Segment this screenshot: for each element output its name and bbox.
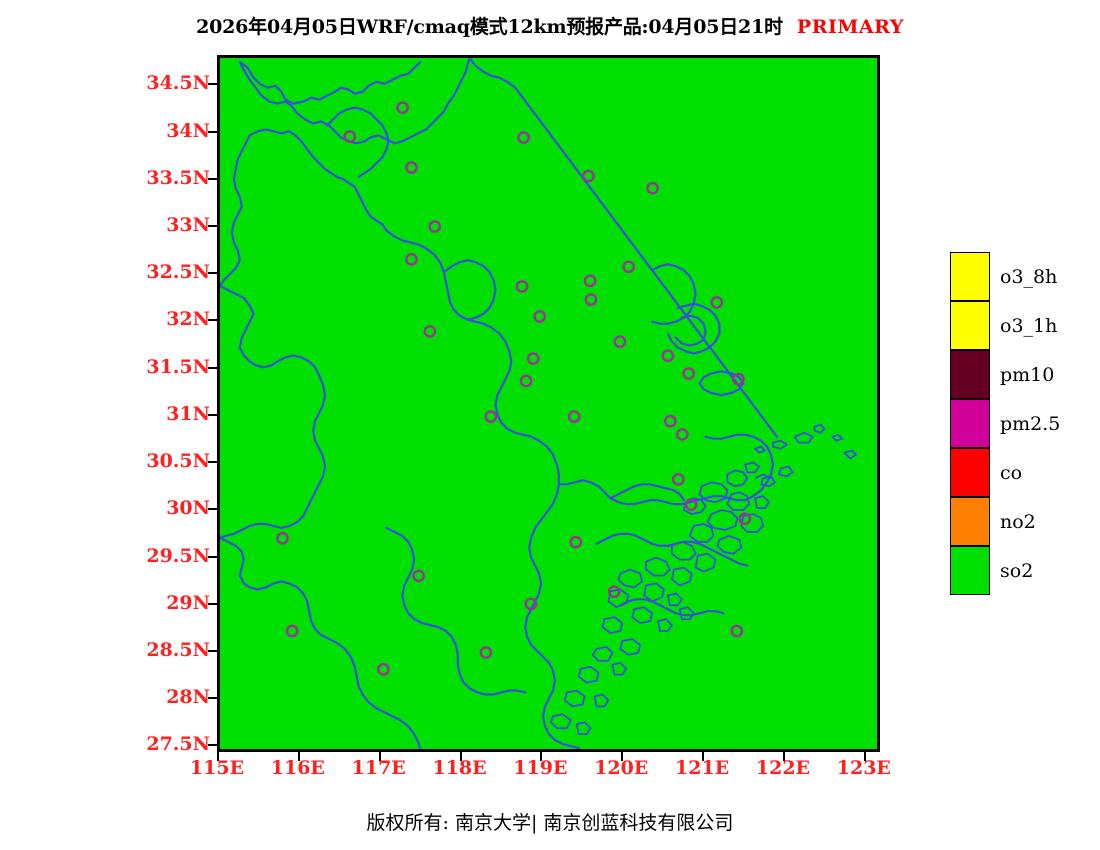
legend-label: o3_1h [1000, 315, 1057, 337]
map-canvas [220, 58, 877, 749]
y-axis-tick-label: 30N [166, 497, 210, 519]
y-axis-tick [208, 650, 217, 652]
y-axis-tick-label: 34.5N [146, 72, 210, 94]
x-axis-tick [621, 752, 623, 761]
legend-label: co [1000, 462, 1022, 484]
legend-row[interactable]: no2 [950, 497, 1095, 546]
y-axis-tick [208, 414, 217, 416]
title-primary-text: PRIMARY [797, 16, 904, 38]
y-axis-tick [208, 744, 217, 746]
legend-row[interactable]: so2 [950, 546, 1095, 595]
y-axis-tick-label: 32.5N [146, 261, 210, 283]
x-axis-tick [379, 752, 381, 761]
legend-color-swatch [950, 252, 990, 301]
x-axis-tick [540, 752, 542, 761]
y-axis-tick-label: 29N [166, 592, 210, 614]
y-axis-tick [208, 178, 217, 180]
x-axis-tick [298, 752, 300, 761]
y-axis-tick-label: 31.5N [146, 356, 210, 378]
title-main-text: 2026年04月05日WRF/cmaq模式12km预报产品:04月05日21时 [196, 16, 783, 38]
y-axis-tick [208, 131, 217, 133]
legend-row[interactable]: pm2.5 [950, 399, 1095, 448]
legend-label: pm10 [1000, 364, 1054, 386]
legend-color-swatch [950, 301, 990, 350]
y-axis-tick-label: 27.5N [146, 733, 210, 755]
y-axis-tick [208, 508, 217, 510]
x-axis-tick [460, 752, 462, 761]
legend-label: pm2.5 [1000, 413, 1060, 435]
y-axis-tick-label: 29.5N [146, 545, 210, 567]
y-axis-tick-label: 34N [166, 120, 210, 142]
y-axis-tick [208, 83, 217, 85]
y-axis-tick [208, 697, 217, 699]
y-axis-tick [208, 556, 217, 558]
y-axis-tick [208, 225, 217, 227]
legend-label: so2 [1000, 560, 1033, 582]
y-axis-tick [208, 367, 217, 369]
x-axis-tick [702, 752, 704, 761]
y-axis-tick [208, 272, 217, 274]
x-axis-tick [864, 752, 866, 761]
legend-color-swatch [950, 350, 990, 399]
legend-label: o3_8h [1000, 266, 1057, 288]
y-axis-tick-label: 28.5N [146, 639, 210, 661]
legend-row[interactable]: pm10 [950, 350, 1095, 399]
y-axis-labels: 27.5N28N28.5N29N29.5N30N30.5N31N31.5N32N… [130, 55, 210, 752]
y-axis-tick-label: 30.5N [146, 450, 210, 472]
y-axis-tick-label: 28N [166, 686, 210, 708]
x-axis-labels: 115E116E117E118E119E120E121E122E123E [217, 757, 880, 787]
y-axis-tick [208, 319, 217, 321]
legend-row[interactable]: co [950, 448, 1095, 497]
y-axis-tick-label: 32N [166, 308, 210, 330]
y-axis-tick [208, 603, 217, 605]
y-axis-tick-label: 31N [166, 403, 210, 425]
y-axis-tick-label: 33N [166, 214, 210, 236]
legend-color-swatch [950, 546, 990, 595]
x-axis-tick [217, 752, 219, 761]
legend-row[interactable]: o3_8h [950, 252, 1095, 301]
legend-row[interactable]: o3_1h [950, 301, 1095, 350]
legend-color-swatch [950, 497, 990, 546]
legend-color-swatch [950, 399, 990, 448]
copyright-footer: 版权所有: 南京大学| 南京创蓝科技有限公司 [0, 808, 1100, 835]
chart-title: 2026年04月05日WRF/cmaq模式12km预报产品:04月05日21时P… [0, 12, 1100, 39]
y-axis-tick-label: 33.5N [146, 167, 210, 189]
x-axis-tick [783, 752, 785, 761]
legend-color-swatch [950, 448, 990, 497]
y-axis-tick [208, 461, 217, 463]
pollutant-legend: o3_8ho3_1hpm10pm2.5cono2so2 [950, 252, 1095, 595]
map-plot-area [217, 55, 880, 752]
legend-label: no2 [1000, 511, 1036, 533]
